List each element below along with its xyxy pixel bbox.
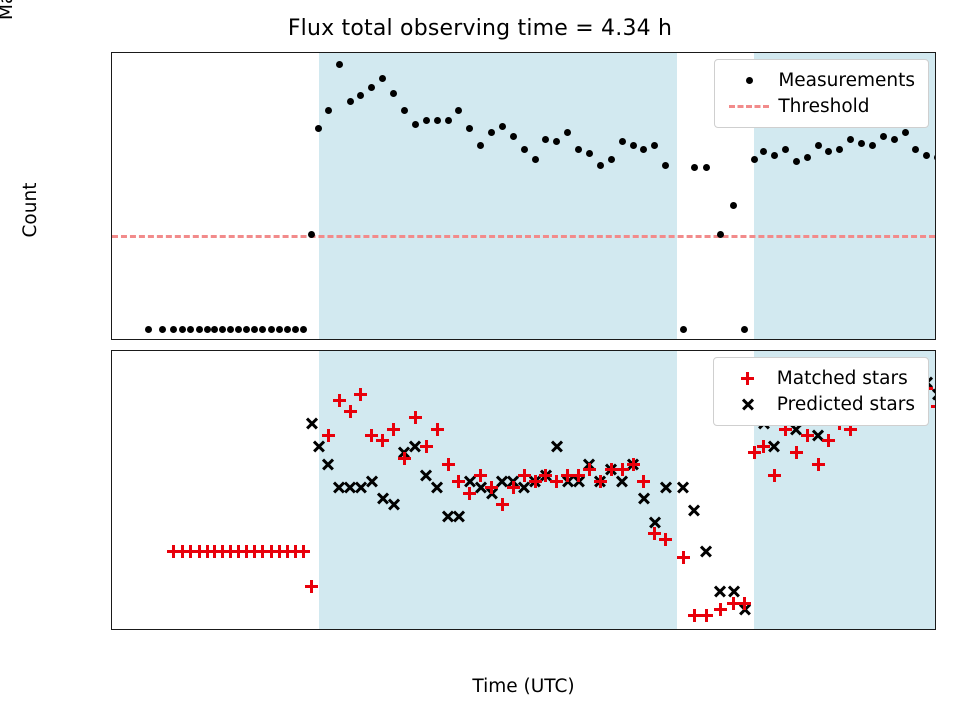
measurement-point [412, 121, 419, 128]
measurement-point [336, 61, 343, 68]
page-title: Flux total observing time = 4.34 h [0, 16, 960, 41]
matched-star-point [297, 545, 310, 558]
bottom-panel-ytick-mark [111, 563, 112, 564]
matched-star-point [442, 458, 455, 471]
matched-star-point [485, 481, 498, 494]
bottom-panel-xtick-mark [336, 629, 337, 630]
top-panel-ylabel: Matched/Predicted stars [0, 0, 22, 52]
matched-star-point [700, 609, 713, 622]
predicted-star-point [637, 492, 650, 505]
matched-star-point [714, 603, 727, 616]
measurement-point [211, 326, 218, 333]
measurement-point [902, 129, 909, 136]
measurement-point [703, 164, 710, 171]
top-panel-ytick-mark [111, 88, 112, 89]
measurement-point [730, 202, 737, 209]
measurement-point [815, 142, 822, 149]
measurement-point [532, 156, 539, 163]
matched-star-point [801, 429, 814, 442]
top-panel-ytick-mark [111, 136, 112, 137]
legend-label: Threshold [772, 96, 869, 117]
measurement-point [159, 326, 166, 333]
dashed-line-swatch [729, 105, 769, 108]
matched-star-point [344, 405, 357, 418]
matched-star-point [322, 429, 335, 442]
bottom-panel-xtick-mark [609, 629, 610, 630]
top-panel-ytick-mark [111, 329, 112, 330]
top-panel-xtick-mark [336, 339, 337, 340]
matched-star-point [507, 481, 520, 494]
legend-label: Measurements [772, 70, 915, 91]
measurement-point [423, 117, 430, 124]
measurement-point [771, 152, 778, 159]
observing-window-shading [319, 53, 677, 339]
matched-star-point [768, 469, 781, 482]
matched-star-point [627, 458, 640, 471]
measurement-point [804, 154, 811, 161]
measurement-point [259, 326, 266, 333]
bottom-panel-ytick-mark [111, 621, 112, 622]
measurement-point [630, 142, 637, 149]
matched-star-point [677, 551, 690, 564]
measurement-point [934, 154, 936, 161]
dot-marker-swatch [746, 77, 753, 84]
measurement-point [379, 75, 386, 82]
legend-label: Matched stars [771, 368, 908, 389]
matched-star-point [496, 498, 509, 511]
plus-marker-swatch [741, 372, 754, 385]
top-panel-ytick-mark [111, 281, 112, 282]
matched-star-point [463, 487, 476, 500]
matched-star-point [790, 446, 803, 459]
measurement-point [521, 146, 528, 153]
legend-entry: Matched stars [725, 365, 915, 391]
top-panel-xtick-mark [881, 339, 882, 340]
matched-star-point [354, 388, 367, 401]
predicted-star-point [700, 545, 713, 558]
top-panel-xtick-mark [609, 339, 610, 340]
measurement-point [292, 326, 299, 333]
matched-star-point [688, 609, 701, 622]
measurement-point [347, 98, 354, 105]
top-panel-ytick-mark [111, 233, 112, 234]
measurement-point [145, 326, 152, 333]
matched-star-point [376, 434, 389, 447]
cross-marker [725, 394, 771, 414]
measurement-point [619, 138, 626, 145]
measurement-point [680, 326, 687, 333]
matched-star-point [594, 475, 607, 488]
legend-label: Predicted stars [771, 394, 915, 415]
measurement-point [445, 117, 452, 124]
measurement-point [782, 146, 789, 153]
bottom-panel-ylabel: Count [20, 70, 46, 350]
matched-star-point [822, 434, 835, 447]
legend-entry: Threshold [726, 93, 915, 119]
measurement-point [187, 326, 194, 333]
top-panel-axes: 0.000.250.500.751.001.25MeasurementsThre… [111, 52, 936, 340]
measurement-point [219, 326, 226, 333]
measurement-point [662, 162, 669, 169]
measurement-point [227, 326, 234, 333]
dot-marker [726, 70, 772, 90]
matched-star-point [931, 400, 936, 413]
measurement-point [564, 129, 571, 136]
predicted-star-point [431, 481, 444, 494]
measurement-point [608, 156, 615, 163]
top-panel-xtick-mark [745, 339, 746, 340]
measurement-point [499, 123, 506, 130]
figure-canvas: Flux total observing time = 4.34 h Match… [0, 0, 960, 720]
predicted-star-point [659, 481, 672, 494]
bottom-panel-ytick-mark [111, 389, 112, 390]
top-panel-xtick-mark [200, 339, 201, 340]
measurement-point [597, 162, 604, 169]
measurement-point [717, 231, 724, 238]
measurement-point [204, 326, 211, 333]
measurement-point [276, 326, 283, 333]
plus-marker [725, 368, 771, 388]
measurement-point [243, 326, 250, 333]
measurement-point [751, 156, 758, 163]
bottom-panel-xtick-mark [200, 629, 201, 630]
threshold-line [112, 235, 935, 238]
predicted-star-point [305, 417, 318, 430]
dashed-line-marker [726, 96, 772, 116]
matched-star-point [431, 423, 444, 436]
matched-star-point [738, 597, 751, 610]
predicted-star-point [677, 481, 690, 494]
legend-entry: Measurements [726, 67, 915, 93]
measurement-point [510, 133, 517, 140]
predicted-star-point [616, 475, 629, 488]
matched-star-point [387, 423, 400, 436]
top-panel-xtick-mark [472, 339, 473, 340]
x-axis-label: Time (UTC) [111, 676, 936, 697]
matched-star-point [420, 440, 433, 453]
predicted-star-point [312, 440, 325, 453]
measurement-point [880, 133, 887, 140]
measurement-point [251, 326, 258, 333]
measurement-point [196, 326, 203, 333]
measurement-point [586, 150, 593, 157]
measurement-point [170, 326, 177, 333]
matched-star-point [409, 411, 422, 424]
measurement-point [488, 129, 495, 136]
cross-marker-swatch [741, 398, 754, 411]
predicted-star-point [688, 504, 701, 517]
top-panel-ytick-mark [111, 184, 112, 185]
measurement-point [741, 326, 748, 333]
predicted-star-point [550, 440, 563, 453]
measurement-point [284, 326, 291, 333]
legendTop[interactable]: MeasurementsThreshold [714, 59, 929, 128]
measurement-point [300, 326, 307, 333]
legendBot[interactable]: Matched starsPredicted stars [713, 357, 929, 426]
predicted-star-point [322, 458, 335, 471]
matched-star-point [398, 452, 411, 465]
predicted-star-point [387, 498, 400, 511]
measurement-point [235, 326, 242, 333]
bottom-panel-xtick-mark [472, 629, 473, 630]
bottom-panel-ytick-mark [111, 447, 112, 448]
predicted-star-point [714, 585, 727, 598]
bottom-panel-xtick-mark [881, 629, 882, 630]
bottom-panel-ytick-mark [111, 505, 112, 506]
measurement-point [691, 164, 698, 171]
measurement-point [793, 158, 800, 165]
matched-star-point [757, 440, 770, 453]
predicted-star-point [452, 510, 465, 523]
matched-star-point [659, 533, 672, 546]
matched-star-point [305, 580, 318, 593]
measurement-point [179, 326, 186, 333]
predicted-star-point [365, 475, 378, 488]
measurement-point [268, 326, 275, 333]
matched-star-point [637, 475, 650, 488]
bottom-panel-xtick-mark [745, 629, 746, 630]
matched-star-point [812, 458, 825, 471]
measurement-point [434, 117, 441, 124]
bottom-panel-axes: 203040506019:0020:0021:0022:0023:0000:00… [111, 350, 936, 630]
legend-entry: Predicted stars [725, 391, 915, 417]
